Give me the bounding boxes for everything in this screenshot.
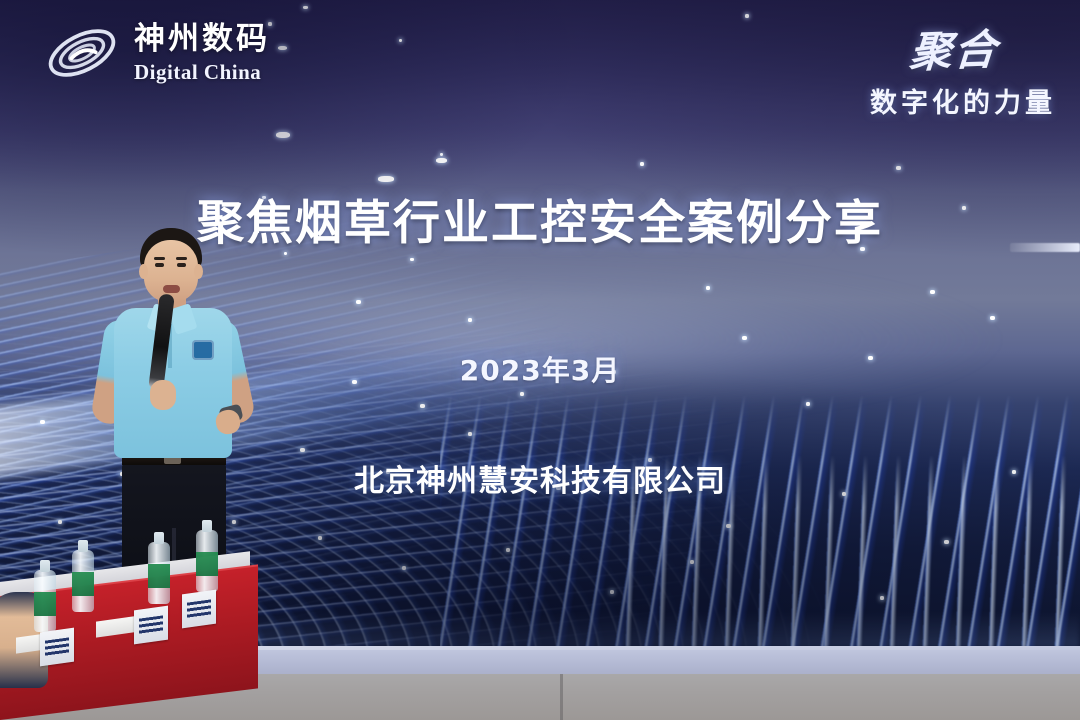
water-bottle — [34, 570, 56, 632]
name-card — [182, 590, 216, 629]
head-table — [0, 556, 266, 720]
name-card — [40, 628, 74, 667]
event-logo: 聚合 数字化的力量 — [870, 18, 1056, 120]
presenter-brow-right — [176, 257, 187, 260]
water-bottle — [196, 530, 218, 592]
presenter-chest-logo — [192, 340, 214, 360]
presenter-ear-right — [194, 264, 203, 279]
presenter-hand-holding-mic — [150, 380, 176, 410]
brand-name-cn: 神州数码 — [134, 24, 270, 55]
brand-name-en: Digital China — [134, 62, 270, 83]
water-bottle — [148, 542, 170, 604]
presenter-mouth — [163, 285, 180, 293]
screenshot-root: 神州数码 Digital China 聚合 数字化的力量 聚焦烟草行业工控安全案… — [0, 0, 1080, 720]
event-calligraphy: 聚合 — [868, 16, 1001, 81]
name-card — [134, 606, 168, 645]
digital-china-logo: 神州数码 Digital China — [44, 22, 270, 84]
floor-seam — [560, 674, 563, 720]
brand-wordmark: 神州数码 Digital China — [134, 24, 270, 83]
presenter-polo-shirt — [114, 308, 232, 458]
water-bottle — [72, 550, 94, 612]
swirl-icon — [44, 22, 120, 84]
presenter-brow-left — [154, 257, 165, 260]
presenter-eye-right — [177, 263, 186, 267]
event-subtitle: 数字化的力量 — [870, 81, 1056, 120]
presenter-eye-left — [155, 263, 164, 267]
presenter-ear-left — [139, 264, 148, 279]
